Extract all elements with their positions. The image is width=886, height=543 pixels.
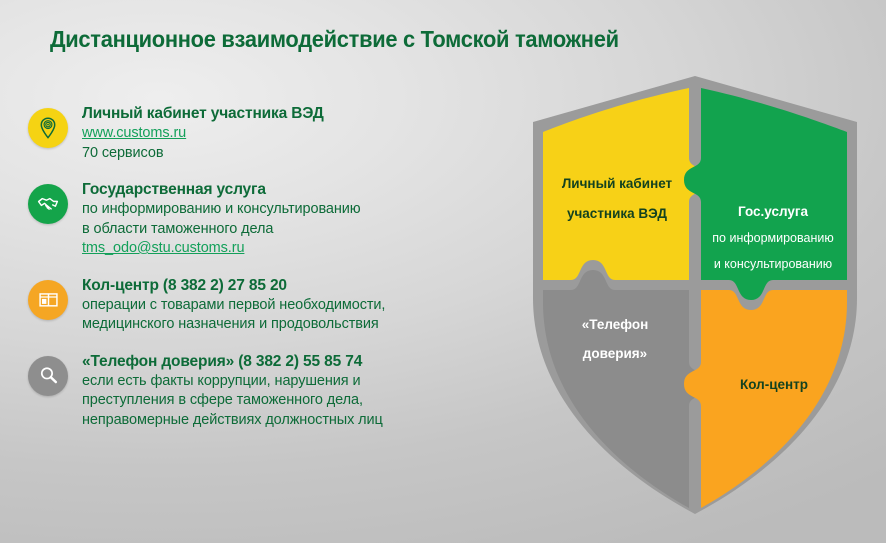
handshake-icon: [28, 184, 68, 224]
piece-label-lichny-kabinet-line2: участника ВЭД: [567, 206, 667, 221]
info-item-line: медицинского назначения и продовольствия: [82, 315, 524, 335]
magnifier-icon: [28, 356, 68, 396]
info-list: Личный кабинет участника ВЭД www.customs…: [24, 104, 524, 447]
info-item-state-service[interactable]: Государственная услуга по информированию…: [24, 180, 524, 259]
piece-label-kol-centr: Кол-центр: [740, 377, 808, 392]
info-item-line: 70 сервисов: [82, 144, 524, 164]
info-item-line: неправомерные действиях должностных лиц: [82, 411, 524, 431]
info-item-heading: «Телефон доверия» (8 382 2) 55 85 74: [82, 352, 524, 372]
piece-label-gos-usluga-line3: и консультированию: [714, 257, 832, 271]
info-item-heading: Кол-центр (8 382 2) 27 85 20: [82, 276, 524, 296]
open-book-icon: [28, 280, 68, 320]
info-item-line: операции с товарами первой необходимости…: [82, 296, 524, 316]
info-item-heading: Личный кабинет участника ВЭД: [82, 104, 524, 124]
info-item-heading: Государственная услуга: [82, 180, 524, 200]
info-item-trust-phone[interactable]: «Телефон доверия» (8 382 2) 55 85 74 есл…: [24, 352, 524, 431]
piece-label-telefon-doveriya-line1: «Телефон: [582, 317, 649, 332]
info-item-line: по информированию и консультированию: [82, 200, 524, 220]
page-title: Дистанционное взаимодействие с Томской т…: [50, 26, 619, 53]
email-link[interactable]: tms_odo@stu.customs.ru: [82, 239, 244, 259]
slide-root: Дистанционное взаимодействие с Томской т…: [0, 0, 886, 543]
info-item-call-center[interactable]: Кол-центр (8 382 2) 27 85 20 операции с …: [24, 276, 524, 335]
piece-telefon-doveriya: [543, 270, 706, 508]
piece-label-telefon-doveriya-line2: доверия»: [583, 346, 647, 361]
info-item-line: если есть факты коррупции, нарушения и: [82, 372, 524, 392]
shield-puzzle-graphic: Личный кабинет участника ВЭД Гос.услуга …: [503, 62, 886, 532]
piece-label-gos-usluga-line2: по информированию: [712, 231, 833, 245]
piece-label-gos-usluga-line1: Гос.услуга: [738, 204, 809, 219]
piece-label-lichny-kabinet-line1: Личный кабинет: [562, 176, 673, 191]
info-item-line: преступления в сфере таможенного дела,: [82, 391, 524, 411]
location-pin-icon: [28, 108, 68, 148]
customs-website-link[interactable]: www.customs.ru: [82, 124, 186, 144]
info-item-personal-account[interactable]: Личный кабинет участника ВЭД www.customs…: [24, 104, 524, 163]
info-item-line: в области таможенного дела: [82, 220, 524, 240]
